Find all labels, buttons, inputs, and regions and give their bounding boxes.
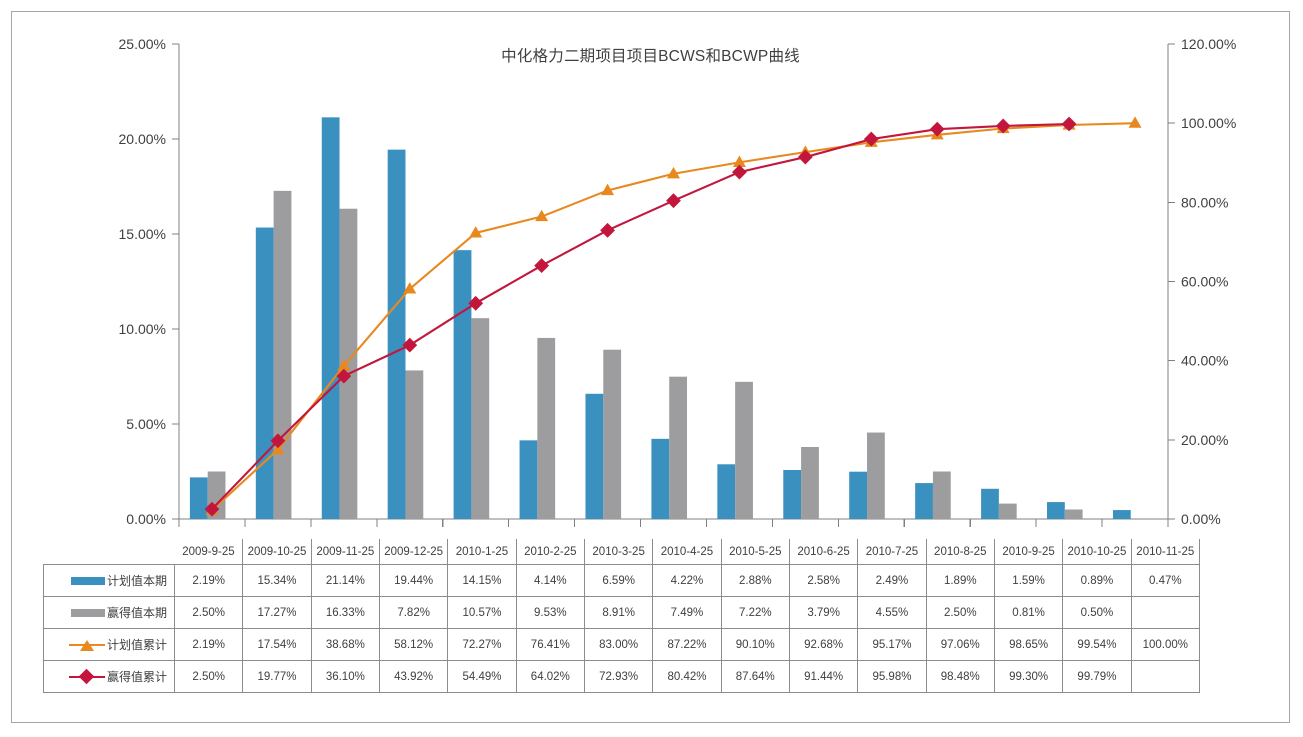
bar [933,472,951,520]
bar [405,370,423,519]
bar [783,470,801,519]
table-row: 赢得值累计2.50%19.77%36.10%43.92%54.49%64.02%… [44,661,1200,693]
table-corner-cell [44,539,175,565]
table-value-cell: 16.33% [311,597,379,629]
table-value-cell: 54.49% [448,661,516,693]
bar [190,477,208,519]
bar [454,250,472,519]
table-value-cell: 98.48% [926,661,994,693]
category-header-cell: 2010-1-25 [448,539,516,565]
table-value-cell: 90.10% [721,629,789,661]
chart-container: 中化格力二期项目项目BCWS和BCWP曲线 0.00%5.00%10.00%15… [11,11,1290,723]
right-axis-tick-label: 100.00% [1181,115,1236,131]
table-value-cell: 97.06% [926,629,994,661]
table-value-cell [1131,597,1199,629]
category-header-cell: 2010-5-25 [721,539,789,565]
table-row: 计划值本期2.19%15.34%21.14%19.44%14.15%4.14%6… [44,565,1200,597]
bar [915,483,933,519]
right-axis-tick-label: 0.00% [1181,511,1221,527]
table-value-cell: 0.89% [1063,565,1131,597]
table-value-cell: 36.10% [311,661,379,693]
table-value-cell: 99.54% [1063,629,1131,661]
table-value-cell: 91.44% [789,661,857,693]
table-value-cell: 99.30% [994,661,1062,693]
table-value-cell: 8.91% [584,597,652,629]
left-axis-tick-label: 10.00% [119,321,166,337]
right-axis-tick-label: 20.00% [1181,432,1228,448]
table-value-cell: 95.17% [858,629,926,661]
table-value-cell: 14.15% [448,565,516,597]
legend-swatch-line-red [69,670,105,684]
category-header-cell: 2010-8-25 [926,539,994,565]
table-value-cell: 100.00% [1131,629,1199,661]
bar [256,228,274,519]
table-value-cell: 43.92% [379,661,447,693]
table-value-cell: 2.19% [175,629,243,661]
table-header-row: 2009-9-252009-10-252009-11-252009-12-252… [44,539,1200,565]
left-axis-tick-label: 20.00% [119,131,166,147]
legend-item-1[interactable]: 赢得值本期 [44,597,175,629]
right-axis-tick-label: 120.00% [1181,36,1236,52]
category-header-cell: 2009-9-25 [175,539,243,565]
table-value-cell: 58.12% [379,629,447,661]
right-axis-tick-label: 40.00% [1181,353,1228,369]
table-value-cell: 83.00% [584,629,652,661]
bar [999,504,1017,519]
table-row: 计划值累计2.19%17.54%38.68%58.12%72.27%76.41%… [44,629,1200,661]
bar [717,464,735,519]
category-header-cell: 2010-3-25 [584,539,652,565]
table-value-cell: 4.22% [653,565,721,597]
bar [801,447,819,519]
diamond-marker [864,132,879,147]
table-value-cell: 1.89% [926,565,994,597]
bar [388,150,406,519]
bar [651,439,669,519]
table-value-cell: 98.65% [994,629,1062,661]
table-value-cell: 2.88% [721,565,789,597]
legend-swatch-bar-gray [71,609,105,617]
table-value-cell: 4.14% [516,565,584,597]
left-axis-tick-label: 15.00% [119,226,166,242]
table-value-cell: 1.59% [994,565,1062,597]
table-value-cell: 2.58% [789,565,857,597]
left-axis-tick-label: 0.00% [126,511,166,527]
table-value-cell: 80.42% [653,661,721,693]
table-value-cell: 4.55% [858,597,926,629]
legend-item-2[interactable]: 计划值累计 [44,629,175,661]
bar [1113,510,1131,519]
bar [669,377,687,519]
bar [849,472,867,519]
right-axis-tick-label: 80.00% [1181,194,1228,210]
table-value-cell: 0.81% [994,597,1062,629]
chart-plot-area: 0.00%5.00%10.00%15.00%20.00%25.00%0.00%2… [12,12,1289,537]
category-header-cell: 2010-6-25 [789,539,857,565]
legend-label: 计划值本期 [107,572,167,589]
category-header-cell: 2010-9-25 [994,539,1062,565]
bar [981,489,999,519]
bar [274,191,292,519]
table-value-cell: 10.57% [448,597,516,629]
table-value-cell: 17.27% [243,597,311,629]
category-header-cell: 2010-4-25 [653,539,721,565]
table-row: 赢得值本期2.50%17.27%16.33%7.82%10.57%9.53%8.… [44,597,1200,629]
legend-swatch-bar-blue [71,577,105,585]
table-value-cell: 19.77% [243,661,311,693]
table-value-cell: 0.47% [1131,565,1199,597]
table-value-cell: 9.53% [516,597,584,629]
bar [1047,502,1065,519]
legend-label: 赢得值本期 [107,604,167,621]
table-value-cell: 87.22% [653,629,721,661]
bar [867,433,885,519]
table-value-cell: 64.02% [516,661,584,693]
category-header-cell: 2010-10-25 [1063,539,1131,565]
table-value-cell: 99.79% [1063,661,1131,693]
diamond-marker [666,193,681,208]
bar [603,350,621,519]
table-value-cell: 17.54% [243,629,311,661]
category-header-cell: 2009-10-25 [243,539,311,565]
table-value-cell: 2.50% [175,597,243,629]
table-value-cell: 72.93% [584,661,652,693]
table-value-cell: 2.50% [926,597,994,629]
table-value-cell: 7.49% [653,597,721,629]
table-value-cell: 2.50% [175,661,243,693]
left-axis-tick-label: 25.00% [119,36,166,52]
table-value-cell: 0.50% [1063,597,1131,629]
table-value-cell: 72.27% [448,629,516,661]
legend-swatch-line-orange [69,638,105,652]
bar [322,117,340,519]
triangle-marker [1129,116,1142,127]
bar [520,440,538,519]
table-value-cell: 3.79% [789,597,857,629]
bar [585,394,603,519]
category-header-cell: 2009-12-25 [379,539,447,565]
table-value-cell: 19.44% [379,565,447,597]
table-value-cell: 38.68% [311,629,379,661]
table-value-cell: 2.19% [175,565,243,597]
right-axis-tick-label: 60.00% [1181,274,1228,290]
table-value-cell: 7.82% [379,597,447,629]
legend-label: 计划值累计 [107,636,167,653]
category-header-cell: 2010-2-25 [516,539,584,565]
category-header-cell: 2010-11-25 [1131,539,1199,565]
legend-label: 赢得值累计 [107,668,167,685]
chart-data-table: 2009-9-252009-10-252009-11-252009-12-252… [43,539,1200,693]
table-value-cell: 92.68% [789,629,857,661]
diamond-marker [600,223,615,238]
bar [1065,510,1083,520]
diamond-marker [534,258,549,273]
bar [735,382,753,519]
table-value-cell: 7.22% [721,597,789,629]
table-value-cell: 76.41% [516,629,584,661]
table-value-cell: 95.98% [858,661,926,693]
table-value-cell: 6.59% [584,565,652,597]
table-value-cell: 87.64% [721,661,789,693]
legend-item-3[interactable]: 赢得值累计 [44,661,175,693]
category-header-cell: 2010-7-25 [858,539,926,565]
bar [537,338,555,519]
table-value-cell: 15.34% [243,565,311,597]
left-axis-tick-label: 5.00% [126,416,166,432]
bar [471,318,489,519]
table-value-cell [1131,661,1199,693]
category-header-cell: 2009-11-25 [311,539,379,565]
table-value-cell: 21.14% [311,565,379,597]
table-value-cell: 2.49% [858,565,926,597]
legend-item-0[interactable]: 计划值本期 [44,565,175,597]
